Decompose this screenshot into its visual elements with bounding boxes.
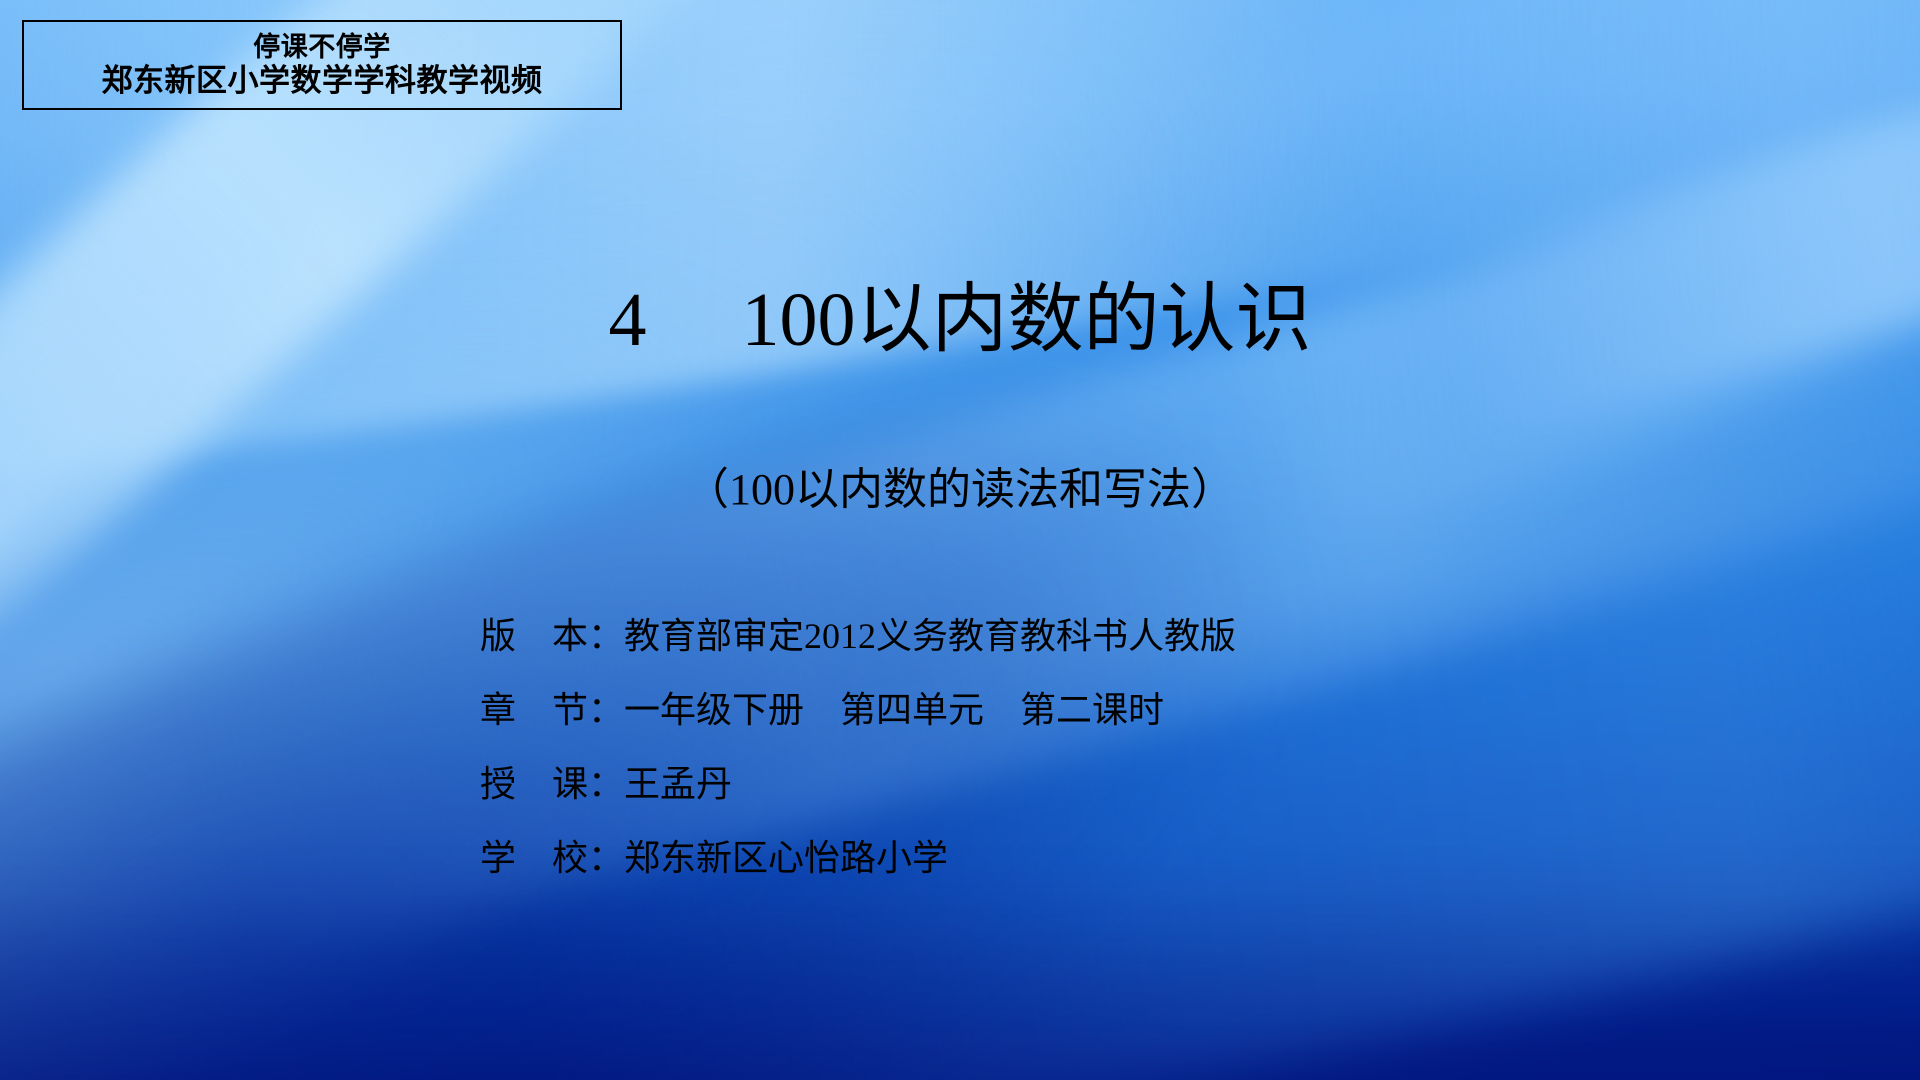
list-item: 学 校： 郑东新区心怡路小学 [480,818,1236,892]
metadata-label: 授 课： [480,755,624,807]
metadata-value: 教育部审定2012义务教育教科书人教版 [624,607,1236,659]
lesson-metadata-list: 版 本： 教育部审定2012义务教育教科书人教版 章 节： 一年级下册 第四单元… [480,596,1236,892]
background-ribbon-2 [0,0,1524,1080]
metadata-label: 章 节： [480,681,624,733]
program-banner: 停课不停学 郑东新区小学数学学科教学视频 [22,20,622,110]
slide-background-decoration [0,0,1920,1080]
banner-line-2: 郑东新区小学数学学科教学视频 [102,63,543,98]
metadata-value: 一年级下册 第四单元 第二课时 [624,681,1164,733]
background-ribbon-9 [1440,0,1920,447]
list-item: 章 节： 一年级下册 第四单元 第二课时 [480,670,1236,744]
list-item: 授 课： 王孟丹 [480,744,1236,818]
metadata-value: 郑东新区心怡路小学 [624,829,948,881]
metadata-label: 版 本： [480,607,624,659]
page-subtitle: （100以内数的读法和写法） [0,468,1920,512]
metadata-label: 学 校： [480,829,624,881]
background-ribbon-10 [0,880,1920,1080]
page-title: 4 100以内数的认识 [0,282,1920,358]
banner-line-1: 停课不停学 [253,32,391,63]
metadata-value: 王孟丹 [624,755,732,807]
presentation-slide: 停课不停学 郑东新区小学数学学科教学视频 4 100以内数的认识 （100以内数… [0,0,1920,1080]
list-item: 版 本： 教育部审定2012义务教育教科书人教版 [480,596,1236,670]
